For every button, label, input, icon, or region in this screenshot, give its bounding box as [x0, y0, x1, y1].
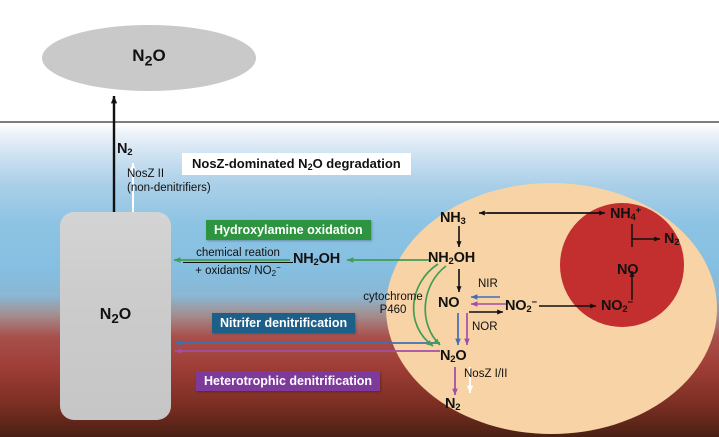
node-no2-anammox: NO2−	[601, 297, 633, 315]
banner-hydroxylamine-oxidation: Hydroxylamine oxidation	[206, 220, 371, 240]
node-no-anammox: NO	[617, 262, 638, 278]
caption-chemical-reaction-line2: + oxidants/ NO2−	[195, 265, 281, 277]
atmospheric-n2o-cloud: N2O	[42, 25, 256, 91]
dissolved-n2o-label: N2O	[100, 306, 131, 326]
caption-nosz2-line2: (non-denitrifiers)	[127, 182, 211, 194]
enzyme-cytochrome-p460-line1: cytochrome	[363, 291, 422, 303]
node-no2: NO2−	[505, 297, 537, 315]
banner-nosz-degradation: NosZ-dominated N2O degradation	[182, 153, 411, 175]
microbial-cell-body	[386, 183, 717, 434]
node-nh4-anammox: NH4+	[610, 205, 641, 223]
node-n2-anammox: N2	[664, 231, 679, 248]
atmospheric-n2o-label: N2O	[132, 46, 165, 69]
enzyme-nosz: NosZ I/II	[464, 368, 507, 380]
caption-nosz2-line1: NosZ II	[127, 168, 164, 180]
caption-chemical-reaction-line1: chemical reation	[183, 247, 293, 263]
enzyme-nor: NOR	[472, 321, 498, 333]
node-n2-water: N2	[117, 141, 132, 158]
node-nh2oh: NH2OH	[428, 250, 475, 267]
node-n2o-cell: N2O	[440, 348, 466, 365]
enzyme-cytochrome-p460: cytochrome P460	[357, 291, 429, 317]
node-external-nh2oh: NH2OH	[293, 251, 340, 268]
figure-canvas: N2O N2O	[0, 0, 719, 437]
banner-nitrifer-denitrification: Nitrifer denitrification	[212, 313, 355, 333]
enzyme-nir: NIR	[478, 278, 498, 290]
banner-heterotrophic-denitrification: Heterotrophic denitrification	[196, 371, 380, 391]
node-nh3: NH3	[440, 210, 466, 227]
node-no: NO	[438, 295, 459, 311]
node-n2-cell: N2	[445, 396, 460, 413]
enzyme-cytochrome-p460-line2: P460	[380, 304, 407, 316]
dissolved-n2o-pool: N2O	[60, 212, 171, 420]
caption-chemical-reaction: chemical reation + oxidants/ NO2−	[183, 247, 293, 279]
